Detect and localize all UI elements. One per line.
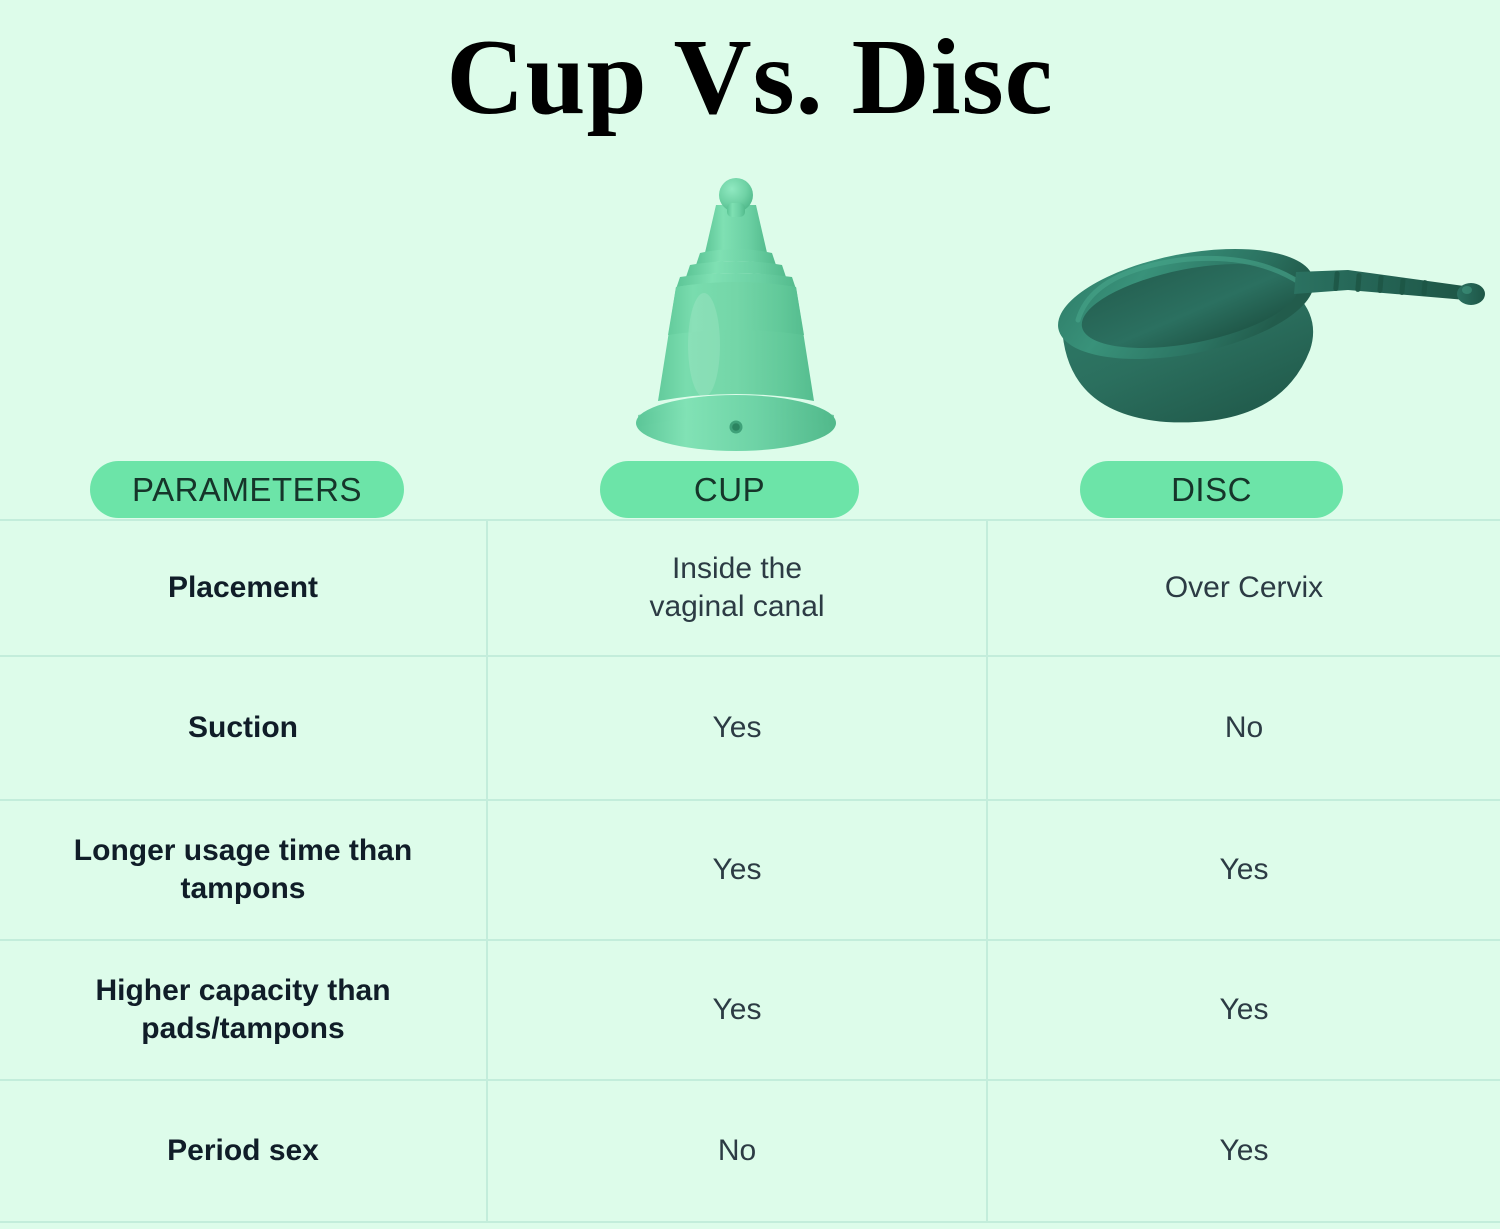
illustration-band <box>0 0 1500 462</box>
row-cup-value: Yes <box>488 801 988 939</box>
row-disc-value: Yes <box>988 1081 1500 1221</box>
row-cup-value: Inside thevaginal canal <box>488 521 988 655</box>
row-cup-value: No <box>488 1081 988 1221</box>
row-parameter-label: Suction <box>0 657 488 799</box>
row-disc-value: No <box>988 657 1500 799</box>
table-row: Placement Inside thevaginal canal Over C… <box>0 521 1500 657</box>
row-disc-value: Yes <box>988 941 1500 1079</box>
row-disc-value: Yes <box>988 801 1500 939</box>
row-parameter-label: Longer usage time thantampons <box>0 801 488 939</box>
header-pill-parameters[interactable]: PARAMETERS <box>90 461 404 518</box>
row-parameter-label: Placement <box>0 521 488 655</box>
header-pill-cup[interactable]: CUP <box>600 461 859 518</box>
comparison-table: Placement Inside thevaginal canal Over C… <box>0 519 1500 1223</box>
table-header-row: PARAMETERS CUP DISC <box>0 461 1500 519</box>
row-disc-value: Over Cervix <box>988 521 1500 655</box>
table-row: Period sex No Yes <box>0 1081 1500 1223</box>
table-row: Longer usage time thantampons Yes Yes <box>0 801 1500 941</box>
header-pill-disc[interactable]: DISC <box>1080 461 1343 518</box>
table-row: Higher capacity thanpads/tampons Yes Yes <box>0 941 1500 1081</box>
row-cup-value: Yes <box>488 657 988 799</box>
menstrual-cup-illustration <box>628 165 844 455</box>
table-row: Suction Yes No <box>0 657 1500 801</box>
row-parameter-label: Period sex <box>0 1081 488 1221</box>
row-cup-value: Yes <box>488 941 988 1079</box>
menstrual-disc-illustration <box>1048 238 1492 424</box>
row-parameter-label: Higher capacity thanpads/tampons <box>0 941 488 1079</box>
